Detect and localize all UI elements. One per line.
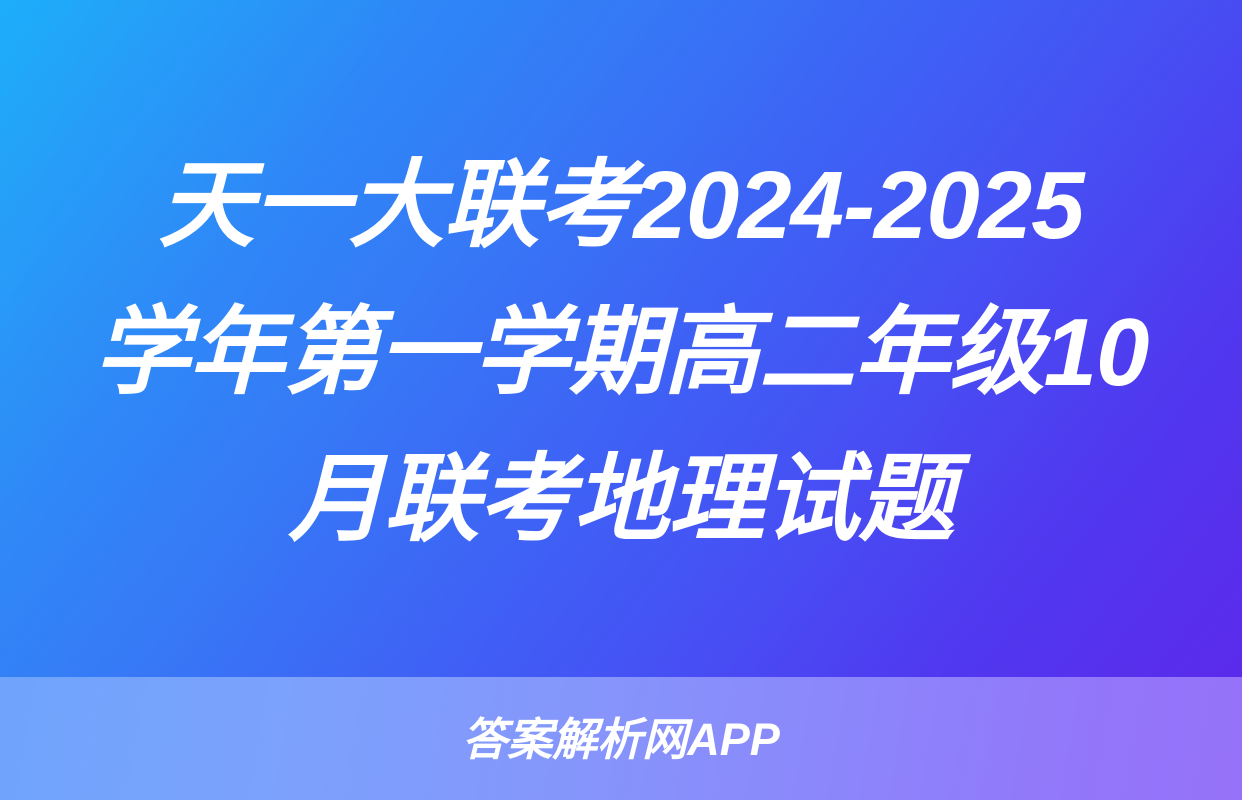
cover-title-line-2: 学年第一学期高二年级10 (0, 279, 1242, 426)
cover-title-line-3: 月联考地理试题 (0, 426, 1242, 573)
brand-name-label: 答案解析网APP (462, 717, 780, 762)
cover-title-line-1: 天一大联考2024-2025 (0, 132, 1242, 279)
brand-footer-band: 答案解析网APP (0, 677, 1242, 800)
exam-cover-image: 天一大联考2024-2025 学年第一学期高二年级10 月联考地理试题 答案解析… (0, 0, 1242, 800)
cover-title-block: 天一大联考2024-2025 学年第一学期高二年级10 月联考地理试题 (0, 0, 1242, 677)
